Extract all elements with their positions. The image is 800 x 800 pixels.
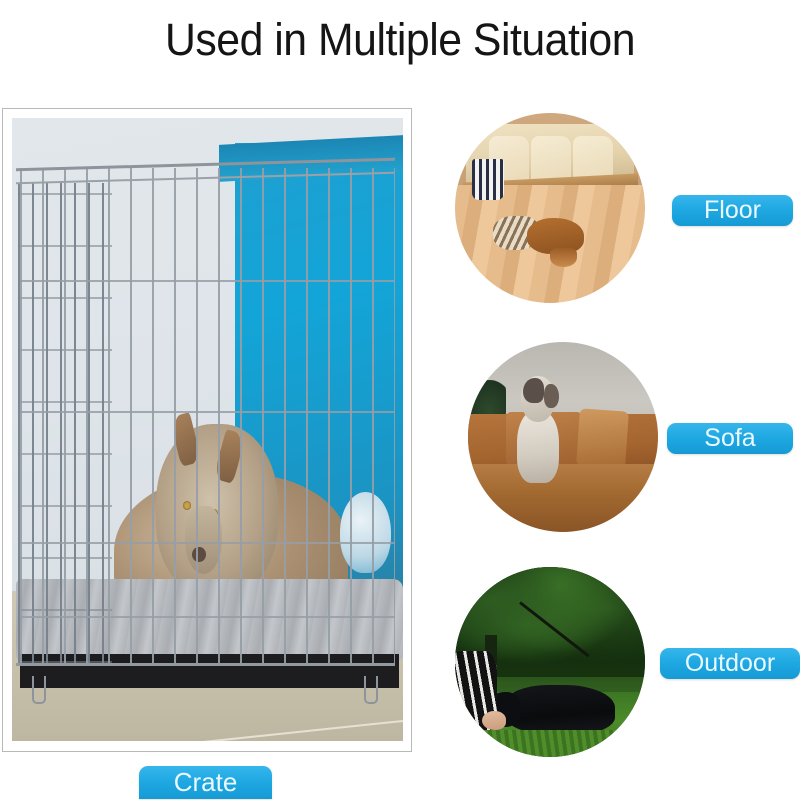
crate-photo [12, 118, 403, 741]
scene-thumbnail-sofa[interactable] [468, 342, 658, 532]
crate-foot [364, 676, 378, 704]
crate-front-bars [20, 168, 395, 666]
crate-bottom-rail [16, 663, 395, 666]
sofa-scene-seat-edge [468, 498, 658, 532]
floor-scene-dog-legs [550, 248, 577, 267]
page-title: Used in Multiple Situation [20, 14, 780, 66]
scene-label-crate[interactable]: Crate [139, 766, 272, 799]
scene-label-floor[interactable]: Floor [672, 195, 793, 226]
outdoor-scene-hand [482, 711, 507, 730]
scene-thumbnail-outdoor[interactable] [455, 567, 645, 757]
sofa-scene-dog-ear [544, 384, 559, 409]
crate-horizontal-bar [20, 616, 395, 618]
scene-thumbnail-floor[interactable] [455, 113, 645, 303]
crate-wire-mesh [12, 118, 403, 741]
outdoor-scene-foreground-grass [455, 730, 645, 757]
main-photo-frame[interactable] [2, 108, 412, 752]
crate-foot [32, 676, 46, 704]
scene-label-outdoor[interactable]: Outdoor [660, 648, 800, 679]
sofa-scene-cushion [576, 409, 629, 469]
sofa-scene-dog-patch [523, 378, 544, 403]
crate-horizontal-bar [20, 542, 395, 544]
crate-horizontal-bar [20, 280, 395, 282]
crate-horizontal-bar [20, 411, 395, 413]
floor-scene-striped-basket [472, 159, 504, 201]
scene-label-sofa[interactable]: Sofa [667, 423, 793, 454]
